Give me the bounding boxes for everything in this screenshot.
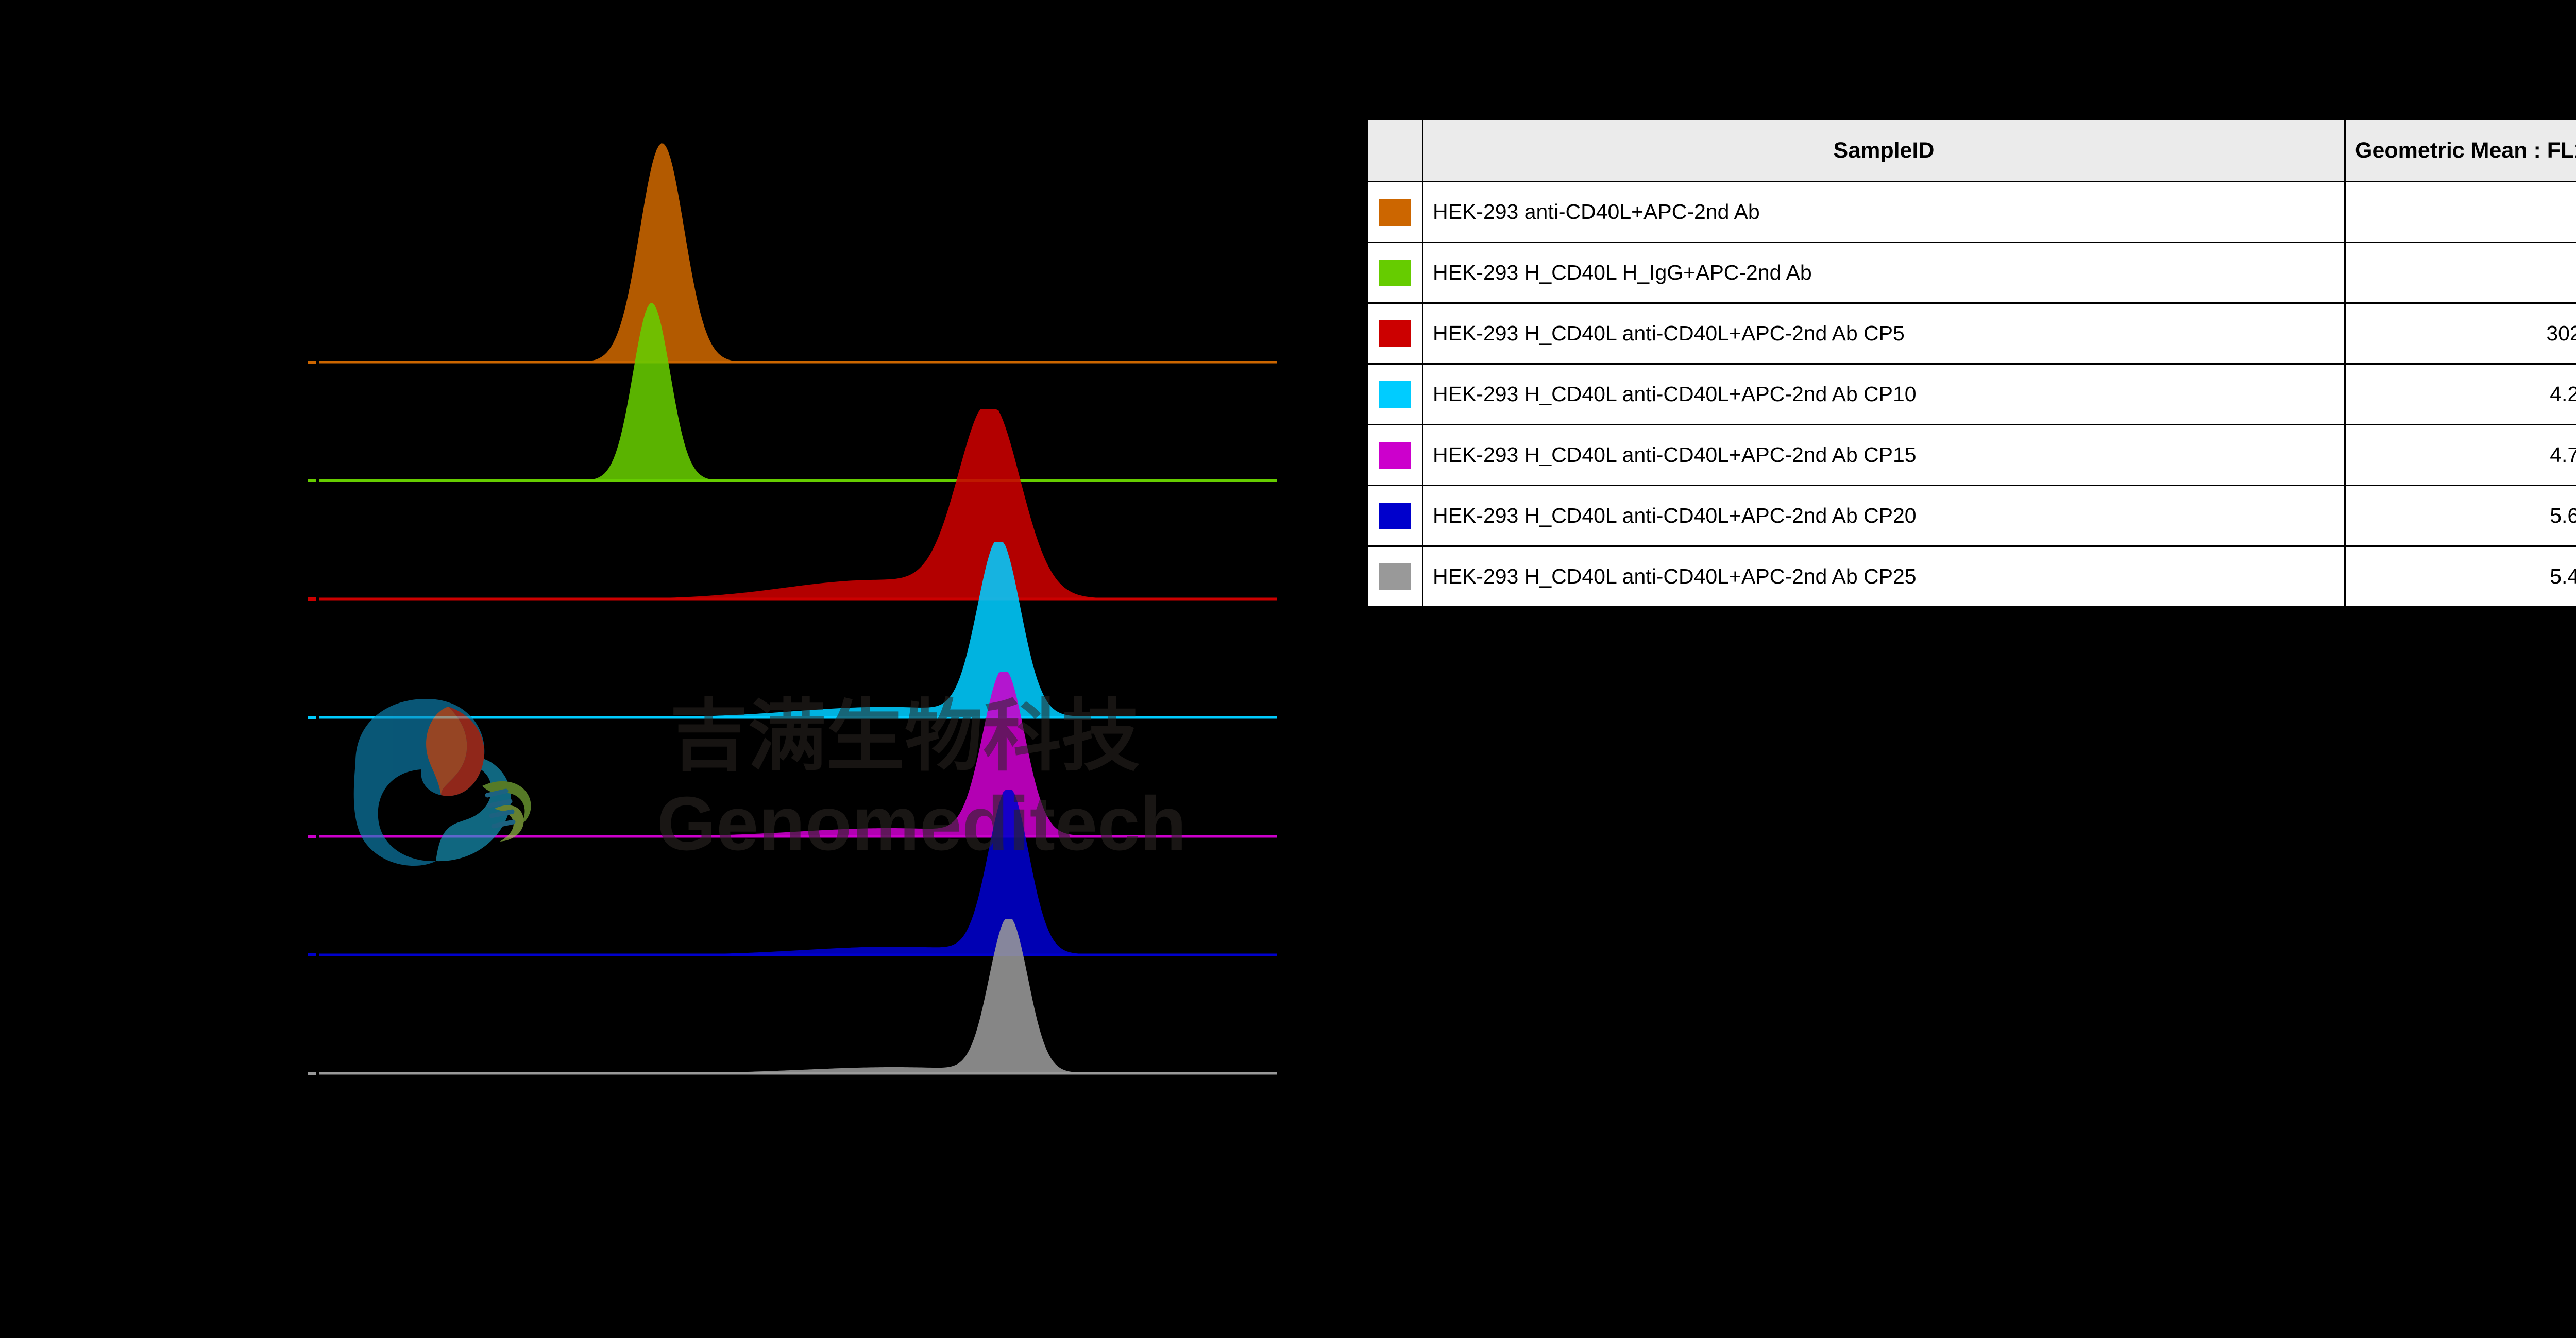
series-area — [319, 542, 1277, 717]
geometric-mean-cell: 715 — [2345, 182, 2576, 243]
series-color-swatch-cell — [1367, 182, 1423, 243]
series-color-swatch-cell — [1367, 546, 1423, 607]
series-color-swatch-cell — [1367, 243, 1423, 303]
series-area — [319, 672, 1277, 836]
table-header: SampleID Geometric Mean : FL11-H — [1367, 119, 2576, 182]
histogram-series-2 — [308, 303, 1277, 481]
sample-id-cell: HEK-293 H_CD40L anti-CD40L+APC-2nd Ab CP… — [1423, 364, 2345, 425]
table-row[interactable]: HEK-293 H_CD40L anti-CD40L+APC-2nd Ab CP… — [1367, 364, 2576, 425]
table-row[interactable]: HEK-293 H_CD40L anti-CD40L+APC-2nd Ab CP… — [1367, 486, 2576, 546]
color-swatch-icon — [1379, 199, 1411, 226]
color-swatch-icon — [1379, 320, 1411, 347]
geometric-mean-cell: 5.46E5 — [2345, 546, 2576, 607]
color-swatch-icon — [1379, 381, 1411, 408]
sample-id-cell: HEK-293 H_CD40L anti-CD40L+APC-2nd Ab CP… — [1423, 303, 2345, 364]
histogram-svg — [319, 124, 1283, 1102]
sample-id-cell: HEK-293 H_CD40L anti-CD40L+APC-2nd Ab CP… — [1423, 546, 2345, 607]
table-row[interactable]: HEK-293 H_CD40L anti-CD40L+APC-2nd Ab CP… — [1367, 303, 2576, 364]
histogram-series-6 — [308, 790, 1277, 955]
color-swatch-icon — [1379, 260, 1411, 286]
sample-id-cell: HEK-293 anti-CD40L+APC-2nd Ab — [1423, 182, 2345, 243]
geometric-mean-cell: 302242 — [2345, 303, 2576, 364]
series-area — [319, 303, 1277, 481]
series-color-swatch-cell — [1367, 303, 1423, 364]
column-header-sample-id: SampleID — [1423, 119, 2345, 182]
column-header-geometric-mean: Geometric Mean : FL11-H — [2345, 119, 2576, 182]
table-row[interactable]: HEK-293 anti-CD40L+APC-2nd Ab715 — [1367, 182, 2576, 243]
table-row[interactable]: HEK-293 H_CD40L anti-CD40L+APC-2nd Ab CP… — [1367, 425, 2576, 486]
sample-id-cell: HEK-293 H_CD40L anti-CD40L+APC-2nd Ab CP… — [1423, 486, 2345, 546]
histogram-series-7 — [308, 919, 1277, 1073]
color-swatch-icon — [1379, 563, 1411, 590]
series-color-swatch-cell — [1367, 486, 1423, 546]
histogram-series-4 — [308, 542, 1277, 717]
series-area — [319, 409, 1277, 599]
sample-id-cell: HEK-293 H_CD40L anti-CD40L+APC-2nd Ab CP… — [1423, 425, 2345, 486]
series-area — [319, 919, 1277, 1073]
table-row[interactable]: HEK-293 H_CD40L H_IgG+APC-2nd Ab606 — [1367, 243, 2576, 303]
geometric-mean-cell: 5.62E5 — [2345, 486, 2576, 546]
sample-id-cell: HEK-293 H_CD40L H_IgG+APC-2nd Ab — [1423, 243, 2345, 303]
geometric-mean-cell: 4.26E5 — [2345, 364, 2576, 425]
series-area — [319, 790, 1277, 955]
table-header-row: SampleID Geometric Mean : FL11-H — [1367, 119, 2576, 182]
series-area — [319, 143, 1277, 362]
series-color-swatch-cell — [1367, 364, 1423, 425]
geometric-mean-cell: 606 — [2345, 243, 2576, 303]
color-swatch-icon — [1379, 503, 1411, 529]
histogram-series-3 — [308, 409, 1277, 599]
histogram-series-1 — [308, 143, 1277, 362]
series-color-swatch-cell — [1367, 425, 1423, 486]
geometric-mean-cell: 4.76E5 — [2345, 425, 2576, 486]
color-swatch-icon — [1379, 442, 1411, 469]
figure-canvas: 吉满生物科技 Genomeditech SampleID Geometric M… — [0, 0, 2576, 1338]
table-row[interactable]: HEK-293 H_CD40L anti-CD40L+APC-2nd Ab CP… — [1367, 546, 2576, 607]
table-body: HEK-293 anti-CD40L+APC-2nd Ab715HEK-293 … — [1367, 182, 2576, 607]
column-header-swatch — [1367, 119, 1423, 182]
histogram-overlay-plot — [319, 124, 1283, 1102]
histogram-series-5 — [308, 672, 1277, 836]
statistics-table: SampleID Geometric Mean : FL11-H HEK-293… — [1366, 117, 2576, 608]
